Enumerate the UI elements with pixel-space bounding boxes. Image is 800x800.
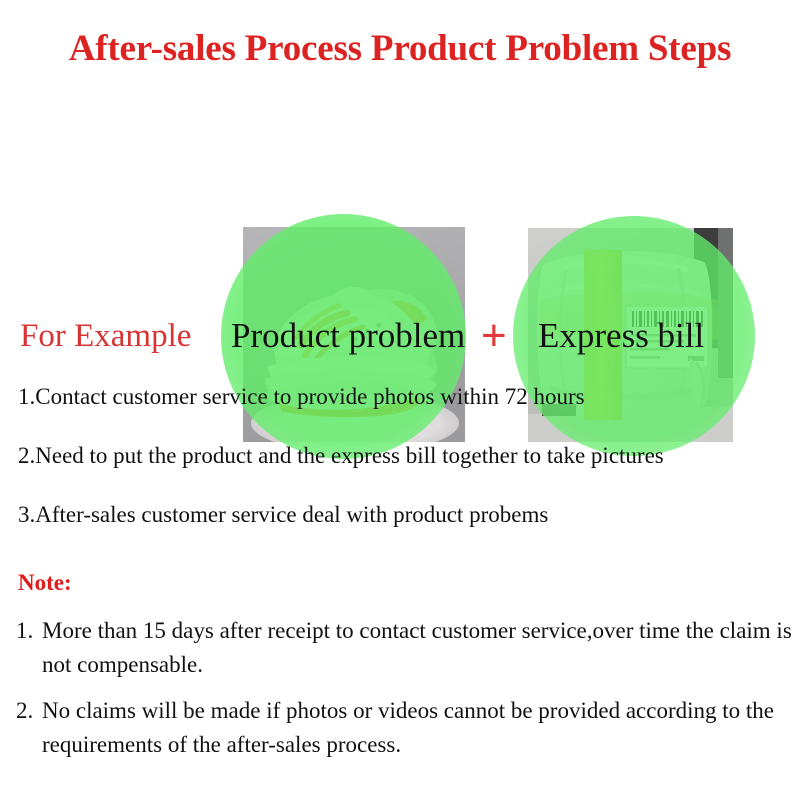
for-example-label: For Example xyxy=(20,318,191,355)
infographic-page: After-sales Process Product Problem Step… xyxy=(0,0,800,800)
caption-express-bill: Express bill xyxy=(538,316,704,356)
example-row: For Example xyxy=(0,110,800,360)
steps-list: 1.Contact customer service to provide ph… xyxy=(18,385,788,562)
plus-icon: + xyxy=(481,314,507,358)
note-list: 1. More than 15 days after receipt to co… xyxy=(16,614,794,774)
note-marker: 2. xyxy=(16,694,33,728)
note-item: 1. More than 15 days after receipt to co… xyxy=(16,614,794,682)
note-marker: 1. xyxy=(16,614,33,648)
note-text: No claims will be made if photos or vide… xyxy=(42,698,774,757)
note-heading: Note: xyxy=(18,570,72,596)
page-title: After-sales Process Product Problem Step… xyxy=(0,27,800,70)
step-item: 3.After-sales customer service deal with… xyxy=(18,503,788,526)
note-text: More than 15 days after receipt to conta… xyxy=(42,618,792,677)
step-item: 1.Contact customer service to provide ph… xyxy=(18,385,788,408)
step-item: 2.Need to put the product and the expres… xyxy=(18,444,788,467)
caption-product-problem: Product problem xyxy=(231,316,465,356)
note-item: 2. No claims will be made if photos or v… xyxy=(16,694,794,762)
